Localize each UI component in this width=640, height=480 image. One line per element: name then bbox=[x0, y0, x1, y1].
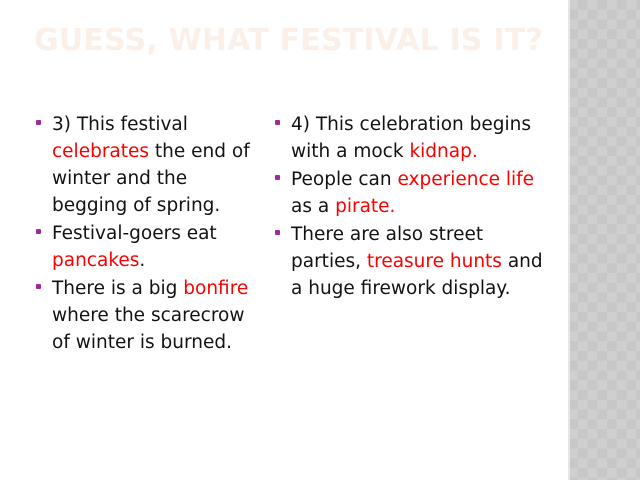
bullet-marker-icon bbox=[36, 229, 41, 234]
highlighted-text: experience life bbox=[397, 169, 534, 190]
highlighted-text: treasure hunts bbox=[367, 251, 502, 272]
content-columns: 3) This festival celebrates the end of w… bbox=[0, 111, 568, 441]
highlighted-text: bonfire bbox=[183, 278, 248, 299]
bullet-marker-icon bbox=[36, 284, 41, 289]
bullet-text: where the scarecrow of winter is burned. bbox=[52, 305, 245, 353]
bullet-item: There are also street parties, treasure … bbox=[269, 221, 552, 302]
checkerboard-decoration bbox=[568, 0, 640, 480]
bullet-list-left: 3) This festival celebrates the end of w… bbox=[30, 111, 268, 356]
bullet-item: People can experience life as a pirate. bbox=[269, 166, 552, 220]
highlighted-text: pirate. bbox=[335, 196, 395, 217]
bullet-item: There is a big bonfire where the scarecr… bbox=[30, 275, 268, 356]
highlighted-text: celebrates bbox=[52, 141, 149, 162]
bullet-item: 4) This celebration begins with a mock k… bbox=[269, 111, 552, 165]
bullet-text: . bbox=[139, 250, 145, 271]
bullet-text: 3) This festival bbox=[52, 114, 188, 135]
bullet-marker-icon bbox=[275, 230, 280, 235]
bullet-column-right: 4) This celebration begins with a mock k… bbox=[268, 111, 552, 303]
bullet-text: as a bbox=[291, 196, 335, 217]
bullet-marker-icon bbox=[275, 120, 280, 125]
bullet-item: 3) This festival celebrates the end of w… bbox=[30, 111, 268, 219]
page-title: Guess, what festival is it? bbox=[34, 22, 554, 59]
bullet-marker-icon bbox=[275, 175, 280, 180]
bullet-text: People can bbox=[291, 169, 397, 190]
bullet-text: Festival-goers eat bbox=[52, 223, 217, 244]
highlighted-text: kidnap. bbox=[409, 141, 477, 162]
bullet-text: There is a big bbox=[52, 278, 183, 299]
slide-canvas: Guess, what festival is it? 3) This fest… bbox=[0, 0, 640, 480]
highlighted-text: pancakes bbox=[52, 250, 139, 271]
bullet-list-right: 4) This celebration begins with a mock k… bbox=[269, 111, 552, 302]
bullet-item: Festival-goers eat pancakes. bbox=[30, 220, 268, 274]
decoration-edge bbox=[568, 0, 570, 480]
bullet-column-left: 3) This festival celebrates the end of w… bbox=[0, 111, 268, 357]
bullet-marker-icon bbox=[36, 120, 41, 125]
